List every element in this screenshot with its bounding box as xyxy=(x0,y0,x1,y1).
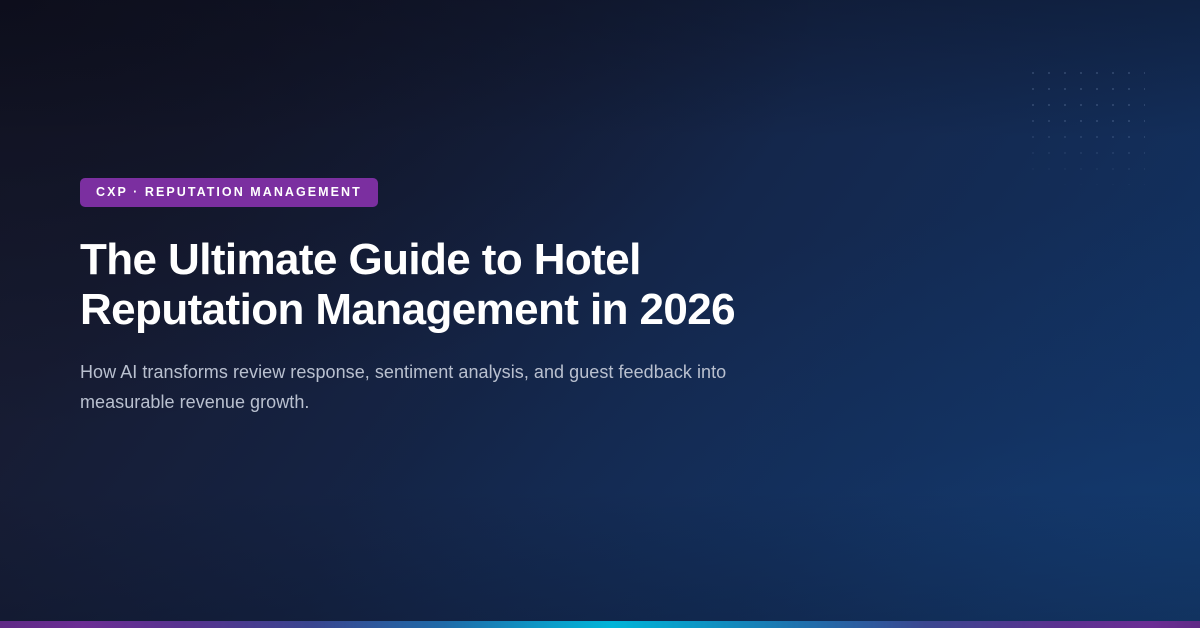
page-subtitle: How AI transforms review response, senti… xyxy=(80,335,770,417)
bottom-accent-bar xyxy=(0,621,1200,628)
page-title: The Ultimate Guide to Hotel Reputation M… xyxy=(80,207,870,335)
category-badge: CXP · REPUTATION MANAGEMENT xyxy=(80,178,378,207)
hero-banner: CXP · REPUTATION MANAGEMENT The Ultimate… xyxy=(0,0,1200,628)
hero-content: CXP · REPUTATION MANAGEMENT The Ultimate… xyxy=(80,178,960,417)
dot-grid-pattern-icon xyxy=(1023,63,1145,185)
